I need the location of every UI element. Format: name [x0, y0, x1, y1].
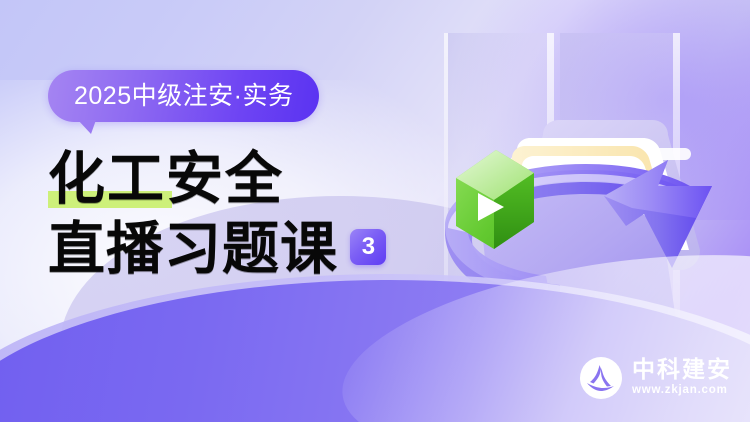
text-column: 2025中级注安·实务 化工安全 直播习题课 3: [48, 70, 478, 280]
course-title-line-1: 化工安全: [48, 148, 478, 210]
background-vertical-bars: [444, 33, 680, 360]
episode-number-badge: 3: [350, 229, 386, 265]
course-title-line-1-text: 化工安全: [48, 145, 284, 212]
folder-front-panel: [478, 188, 676, 337]
zkjan-circle-logo-icon: [579, 356, 623, 400]
purple-circular-arrow: [445, 160, 712, 310]
course-banner: 2025中级注安·实务 化工安全 直播习题课 3: [0, 0, 750, 422]
brand-logo-text: 中科建安 www.zkjan.com: [632, 359, 732, 397]
bottom-band: [0, 280, 750, 422]
white-document-sheet: [510, 138, 689, 250]
course-category-badge-label: 2025中级注安·实务: [74, 84, 293, 109]
course-title-line-2-text: 直播习题课: [48, 215, 338, 282]
brand-name: 中科建安: [632, 359, 732, 382]
brand-url: www.zkjan.com: [632, 385, 728, 397]
badge-tail-pointer: [78, 120, 96, 134]
course-category-badge: 2025中级注安·实务: [48, 70, 319, 122]
episode-number-text: 3: [362, 235, 375, 259]
brand-logo: 中科建安 www.zkjan.com: [579, 356, 732, 400]
folder-back-panel: [506, 120, 700, 270]
course-title: 化工安全 直播习题课 3: [48, 148, 478, 280]
yellow-document-sheet: [504, 146, 677, 260]
background-glow-top-right: [450, 0, 750, 220]
course-title-line-2: 直播习题课 3: [48, 218, 478, 280]
